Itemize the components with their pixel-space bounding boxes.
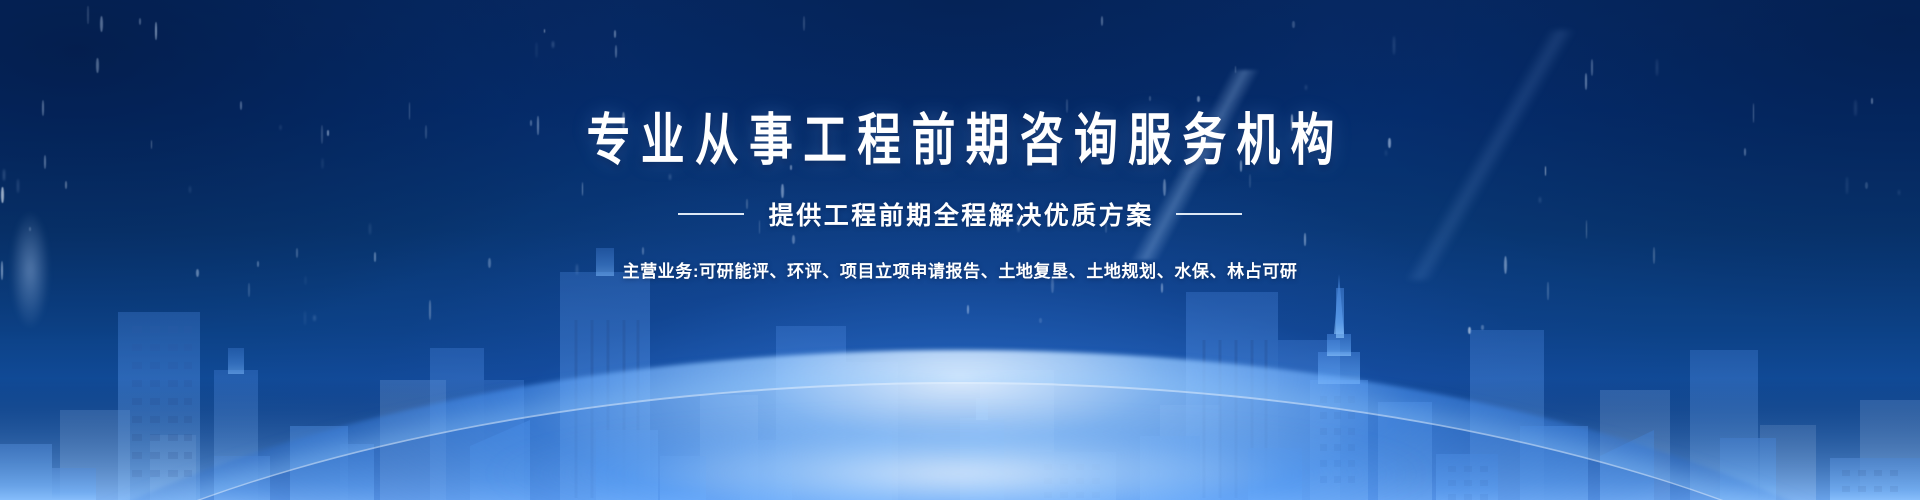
hero-banner: 专业从事工程前期咨询服务机构 提供工程前期全程解决优质方案 主营业务:可研能评、… [0, 0, 1920, 500]
city-skyline-silhouette [0, 230, 1920, 500]
